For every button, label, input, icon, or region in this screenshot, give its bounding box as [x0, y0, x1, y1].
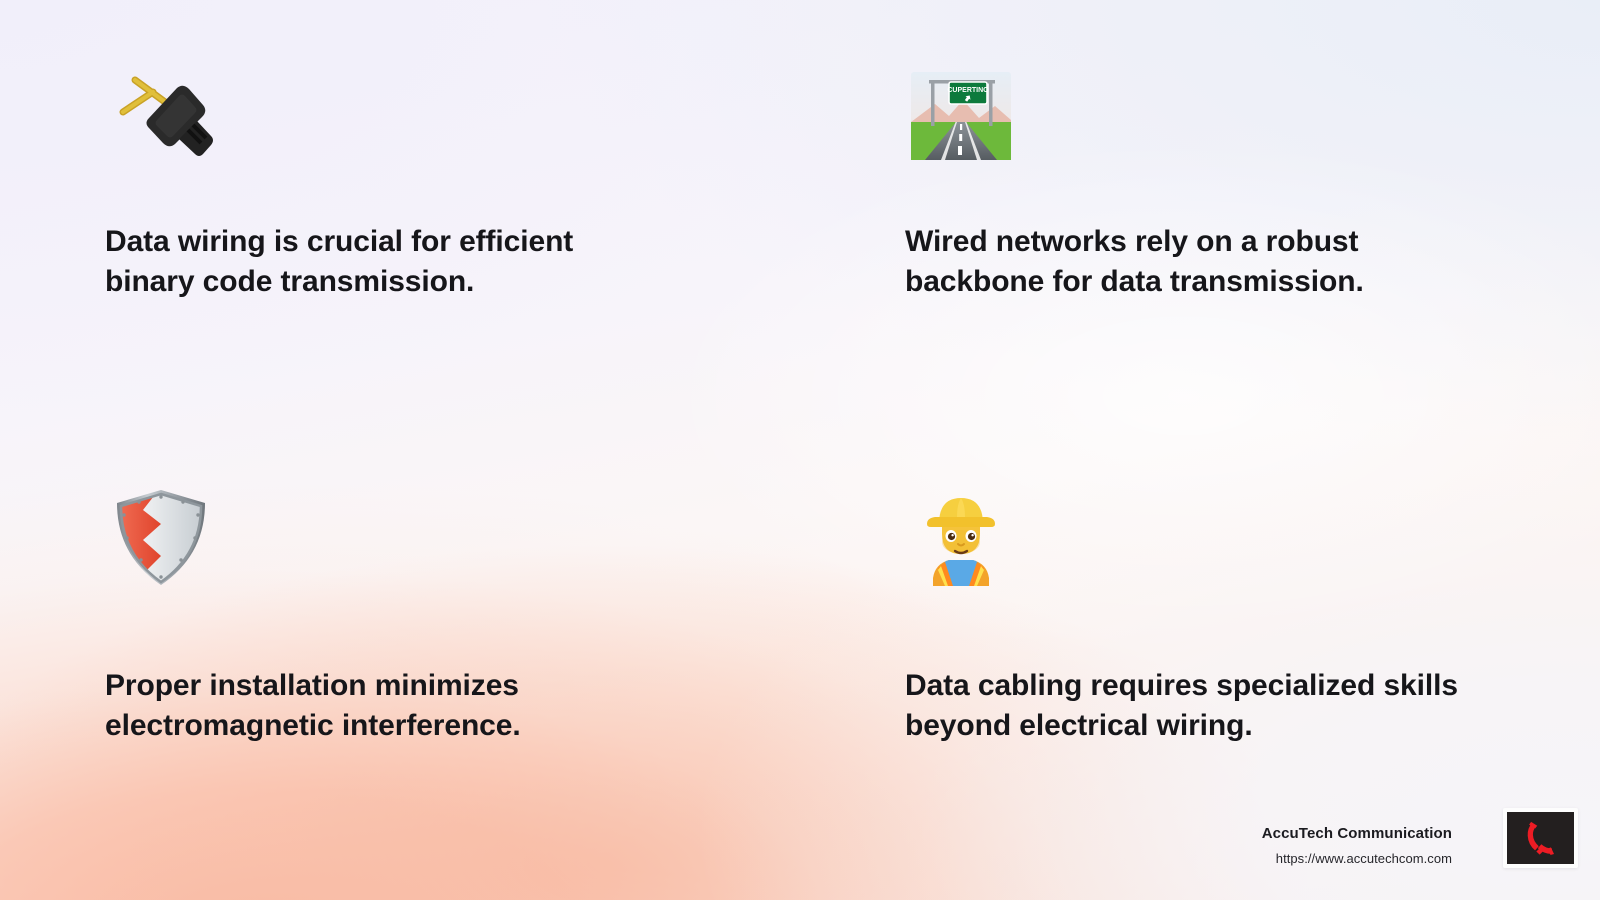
- content-cell-shield: Proper installation minimizes electromag…: [105, 482, 745, 746]
- brand-logo[interactable]: [1503, 808, 1578, 868]
- content-grid: Data wiring is crucial for efficient bin…: [0, 0, 1600, 900]
- cell-text-motorway: Wired networks rely on a robust backbone…: [905, 222, 1485, 302]
- motorway-icon: CUPERTINO: [905, 60, 1545, 180]
- electric-plug-icon: [105, 60, 745, 180]
- telephone-handset-icon: [1519, 816, 1563, 860]
- brand-name: AccuTech Communication: [1262, 825, 1452, 842]
- shield-icon: [105, 482, 745, 602]
- brand-logo-frame: [1507, 812, 1574, 864]
- motorway-sign-label: CUPERTINO: [947, 87, 989, 94]
- content-cell-worker: Data cabling requires specialized skills…: [905, 482, 1545, 746]
- brand-url[interactable]: https://www.accutechcom.com: [1262, 851, 1452, 866]
- brand-block: AccuTech Communication https://www.accut…: [1262, 825, 1452, 866]
- cell-text-shield: Proper installation minimizes electromag…: [105, 666, 685, 746]
- slide-canvas: Data wiring is crucial for efficient bin…: [0, 0, 1600, 900]
- content-cell-plug: Data wiring is crucial for efficient bin…: [105, 60, 745, 302]
- cell-text-worker: Data cabling requires specialized skills…: [905, 666, 1505, 746]
- content-cell-motorway: CUPERTINO Wired networks rely on a robus…: [905, 60, 1545, 302]
- construction-worker-icon: [905, 482, 1545, 602]
- cell-text-plug: Data wiring is crucial for efficient bin…: [105, 222, 685, 302]
